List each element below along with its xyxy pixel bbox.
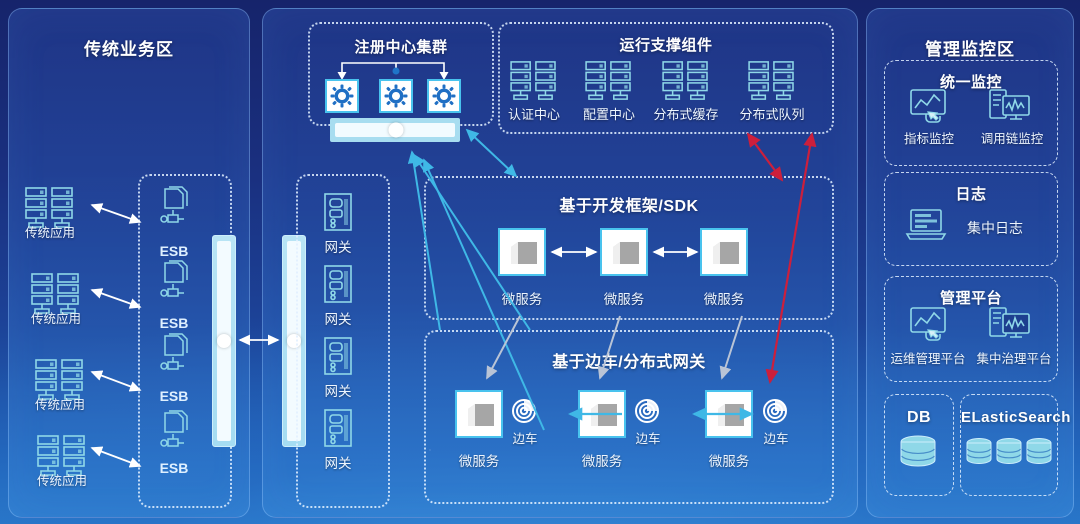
runtime-item-label: 分布式队列 [726, 104, 818, 123]
elasticsearch-title: ELasticSearch [961, 409, 1057, 426]
gateway-label: 网关 [308, 236, 368, 256]
esb-service-bus[interactable] [212, 235, 236, 447]
gateway-label: 网关 [308, 380, 368, 400]
gateway-icon [322, 192, 354, 234]
gear-icon [429, 81, 459, 111]
esb-icon [155, 410, 193, 454]
database-single-icon [897, 434, 939, 472]
gateway-label: 网关 [308, 452, 368, 472]
esb-icon [155, 186, 193, 230]
slider-knob[interactable] [389, 123, 404, 138]
management-platform-title: 管理平台 [885, 287, 1057, 308]
gateway-icon [322, 336, 354, 378]
esb-label: ESB [151, 388, 197, 404]
microservice-label: 微服务 [443, 450, 515, 470]
esb-label: ESB [151, 315, 197, 331]
runtime-item-label: 分布式缓存 [640, 104, 732, 123]
sidecar-spiral-icon [762, 398, 788, 424]
cube-icon [716, 402, 746, 430]
cube-icon [509, 240, 539, 268]
gear-icon [381, 81, 411, 111]
microservice-label: 微服务 [688, 288, 760, 308]
gateway-icon [322, 264, 354, 306]
legacy-app-label: 传统应用 [10, 222, 90, 241]
cube-icon [611, 240, 641, 268]
gear-icon [327, 81, 357, 111]
legacy-app-label: 传统应用 [22, 470, 102, 489]
runtime-item-label: 配置中心 [569, 104, 649, 123]
server-stack-icon [660, 60, 712, 102]
runtime-item-label: 认证中心 [494, 104, 574, 123]
esb-label: ESB [151, 243, 197, 259]
microservice-label: 微服务 [693, 450, 765, 470]
sdk-zone-title: 基于开发框架/SDK [426, 192, 832, 216]
platform-item-label: 集中治理平台 [962, 348, 1066, 367]
gateway-label: 网关 [308, 308, 368, 328]
monitor-item-label: 调用链监控 [966, 128, 1058, 147]
sidecar-label: 边车 [504, 428, 546, 447]
microservice-card[interactable] [700, 228, 748, 276]
microservice-label: 微服务 [588, 288, 660, 308]
legacy-app-label: 传统应用 [20, 394, 100, 413]
sidecar-zone-title: 基于边车/分布式网关 [426, 348, 832, 372]
registry-title: 注册中心集群 [310, 36, 492, 57]
sidecar-label: 边车 [627, 428, 669, 447]
sidecar-spiral-icon [634, 398, 660, 424]
bus-knob[interactable] [217, 334, 231, 348]
cube-icon [589, 402, 619, 430]
db-title: DB [885, 409, 953, 427]
microservice-card[interactable] [578, 390, 626, 438]
sidecar-label: 边车 [755, 428, 797, 447]
trace-monitor-icon [988, 88, 1032, 124]
gateway-icon [322, 408, 354, 450]
metrics-dashboard-icon [908, 88, 950, 124]
log-title: 日志 [885, 183, 1057, 204]
registry-node-tile[interactable] [379, 79, 413, 113]
metrics-dashboard-icon [908, 306, 950, 342]
database-triple-icon [964, 436, 1054, 472]
esb-icon [155, 333, 193, 377]
esb-icon [155, 260, 193, 304]
monitor-item-label: 指标监控 [886, 128, 972, 147]
architecture-diagram: 传统业务区 传统应用 [0, 0, 1080, 524]
cube-icon [711, 240, 741, 268]
server-stack-icon [583, 60, 635, 102]
trace-monitor-icon [988, 306, 1032, 342]
microservice-label: 微服务 [566, 450, 638, 470]
laptop-log-icon [905, 208, 947, 242]
legacy-app-label: 传统应用 [16, 308, 96, 327]
registry-node-tile[interactable] [427, 79, 461, 113]
runtime-components-title: 运行支撑组件 [500, 34, 832, 55]
registry-load-balancer[interactable] [330, 118, 460, 142]
panel-manage-title: 管理监控区 [867, 35, 1073, 60]
panel-legacy-title: 传统业务区 [9, 35, 249, 60]
server-stack-icon [746, 60, 798, 102]
sidecar-spiral-icon [511, 398, 537, 424]
microservice-label: 微服务 [486, 288, 558, 308]
microservice-card[interactable] [600, 228, 648, 276]
microservice-card[interactable] [705, 390, 753, 438]
microservice-card[interactable] [455, 390, 503, 438]
registry-node-tile[interactable] [325, 79, 359, 113]
log-item-label: 集中日志 [955, 218, 1035, 238]
server-stack-icon [508, 60, 560, 102]
cube-icon [466, 402, 496, 430]
esb-label: ESB [151, 460, 197, 476]
microservice-card[interactable] [498, 228, 546, 276]
